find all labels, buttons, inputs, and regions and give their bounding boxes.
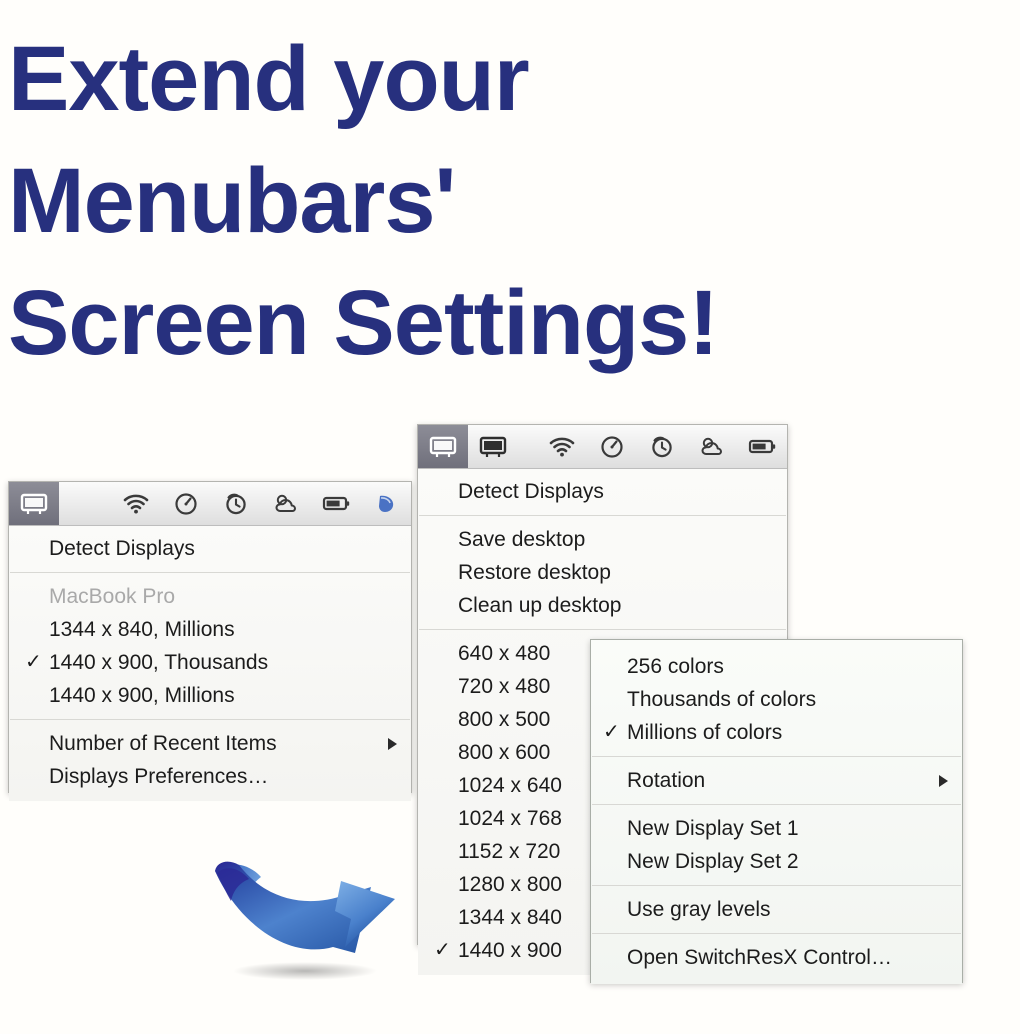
menubar-battery-icon[interactable] — [311, 482, 361, 526]
menu-item[interactable]: ✓1440 x 900, Thousands — [9, 646, 411, 679]
menubar-battery-icon[interactable] — [737, 425, 787, 469]
checkmark-icon: ✓ — [25, 649, 42, 676]
menu-item-label: Save desktop — [458, 528, 585, 551]
menubar-gauge-icon[interactable] — [161, 482, 211, 526]
menu-item[interactable]: New Display Set 1 — [591, 812, 962, 845]
menubar-bluetooth-cloud-icon[interactable] — [687, 425, 737, 469]
menu-separator — [419, 515, 786, 516]
menu-item-label: 800 x 500 — [458, 708, 550, 731]
menu-item: MacBook Pro — [9, 580, 411, 613]
menu-item[interactable]: Clean up desktop — [418, 589, 787, 622]
menu-item[interactable]: Detect Displays — [418, 475, 787, 508]
menu-separator — [592, 885, 961, 886]
menu-separator — [419, 629, 786, 630]
displays-menu-panel: Detect DisplaysMacBook Pro1344 x 840, Mi… — [8, 481, 412, 793]
menu-item-label: 1440 x 900 — [458, 939, 562, 962]
menu-item[interactable]: ✓Millions of colors — [591, 716, 962, 749]
menu-item-label: 1152 x 720 — [458, 840, 560, 863]
menu-item-label: Millions of colors — [627, 721, 782, 744]
checkmark-icon: ✓ — [434, 937, 451, 964]
menu-item-label: Rotation — [627, 769, 705, 792]
menu-separator — [10, 719, 410, 720]
menu-item-label: 1024 x 768 — [458, 807, 562, 830]
menu-item-label: Use gray levels — [627, 898, 771, 921]
headline-line-3: Screen Settings! — [8, 262, 968, 384]
menu-item[interactable]: Restore desktop — [418, 556, 787, 589]
submenu-arrow-icon — [388, 738, 397, 750]
menubar-time-machine-icon[interactable] — [211, 482, 261, 526]
menu-item-label: 1280 x 800 — [458, 873, 562, 896]
menu-item-label: Restore desktop — [458, 561, 611, 584]
menubar-display-icon[interactable] — [418, 425, 468, 469]
menu-separator — [10, 572, 410, 573]
submenu-arrow-icon — [939, 775, 948, 787]
menubar-blue-app-icon[interactable] — [361, 482, 411, 526]
menu-item-label: 1344 x 840 — [458, 906, 562, 929]
color-depth-submenu-panel: 256 colorsThousands of colors✓Millions o… — [590, 639, 963, 983]
menubar-time-machine-icon[interactable] — [637, 425, 687, 469]
menubar-strip-mid — [418, 425, 787, 469]
menubar-bluetooth-cloud-icon[interactable] — [261, 482, 311, 526]
menu-item-label: Number of Recent Items — [49, 732, 277, 755]
menu-separator — [592, 756, 961, 757]
menubar-strip-left — [9, 482, 411, 526]
menu-item-label: Open SwitchResX Control… — [627, 946, 892, 969]
menu-item[interactable]: Use gray levels — [591, 893, 962, 926]
menu-item[interactable]: Number of Recent Items — [9, 727, 411, 760]
menu-item-label: 1440 x 900, Millions — [49, 684, 235, 707]
menu-item[interactable]: 1440 x 900, Millions — [9, 679, 411, 712]
menu-separator — [592, 933, 961, 934]
menu-item[interactable]: Open SwitchResX Control… — [591, 941, 962, 974]
menu-item-label: 1440 x 900, Thousands — [49, 651, 268, 674]
page-title: Extend yourMenubars'Screen Settings! — [8, 18, 968, 384]
menubar-wifi-icon[interactable] — [537, 425, 587, 469]
menu-item-label: Thousands of colors — [627, 688, 816, 711]
headline-line-2: Menubars' — [8, 140, 968, 262]
menu-item-label: 640 x 480 — [458, 642, 550, 665]
menu-item-label: 1344 x 840, Millions — [49, 618, 235, 641]
arrow-shadow — [233, 962, 377, 980]
headline-line-1: Extend your — [8, 18, 968, 140]
menu-item[interactable]: Save desktop — [418, 523, 787, 556]
menu-item-label: 1024 x 640 — [458, 774, 562, 797]
menubar-display-dark-icon[interactable] — [468, 425, 518, 469]
menu-item-label: 256 colors — [627, 655, 724, 678]
menu-item[interactable]: Displays Preferences… — [9, 760, 411, 793]
menu-item[interactable]: Thousands of colors — [591, 683, 962, 716]
menu-separator — [592, 804, 961, 805]
curved-blue-arrow — [205, 855, 405, 985]
menu-item-label: 720 x 480 — [458, 675, 550, 698]
menu-item-label: 800 x 600 — [458, 741, 550, 764]
menu-items-left: Detect DisplaysMacBook Pro1344 x 840, Mi… — [9, 526, 411, 801]
menu-items-right: 256 colorsThousands of colors✓Millions o… — [591, 640, 962, 984]
menu-item-label: MacBook Pro — [49, 585, 175, 608]
menu-item-label: New Display Set 2 — [627, 850, 799, 873]
menu-item[interactable]: New Display Set 2 — [591, 845, 962, 878]
menu-item[interactable]: 1344 x 840, Millions — [9, 613, 411, 646]
menubar-gauge-icon[interactable] — [587, 425, 637, 469]
menu-item[interactable]: Detect Displays — [9, 532, 411, 565]
menubar-wifi-icon[interactable] — [111, 482, 161, 526]
menu-item-label: Detect Displays — [49, 537, 195, 560]
checkmark-icon: ✓ — [603, 719, 620, 746]
menu-item[interactable]: Rotation — [591, 764, 962, 797]
menu-item[interactable]: 256 colors — [591, 650, 962, 683]
menubar-display-icon[interactable] — [9, 482, 59, 526]
menu-item-label: Displays Preferences… — [49, 765, 268, 788]
menu-item-label: Detect Displays — [458, 480, 604, 503]
menu-item-label: Clean up desktop — [458, 594, 621, 617]
menu-item-label: New Display Set 1 — [627, 817, 799, 840]
